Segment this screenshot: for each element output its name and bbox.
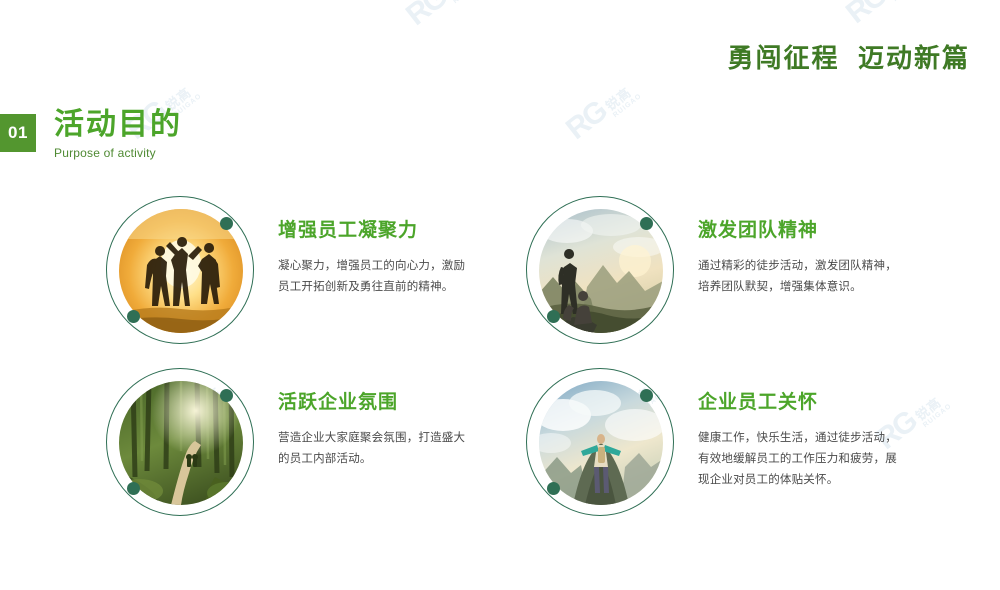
circle-photo-frame [100, 362, 262, 524]
section-number-badge: 01 [0, 114, 36, 152]
ring-dot-bottom-left [127, 310, 140, 323]
page-subtitle: Purpose of activity [54, 146, 182, 160]
card-text: 增强员工凝聚力 凝心聚力，增强员工的向心力，激励员工开拓创新及勇往直前的精神。 [278, 190, 474, 298]
card-title: 活跃企业氛围 [278, 392, 474, 415]
ring-dot-top-right [220, 389, 233, 402]
header-title: 勇闯征程 迈动新篇 [728, 38, 970, 75]
card-text: 激发团队精神 通过精彩的徒步活动，激发团队精神，培养团队默契，增强集体意识。 [698, 190, 898, 298]
circle-photo-frame [520, 362, 682, 524]
watermark-logo: RG [560, 95, 613, 147]
ring-dot-bottom-left [547, 482, 560, 495]
card-title: 激发团队精神 [698, 220, 898, 243]
watermark-mark: RG 锐高 RUIGAO [840, 0, 923, 31]
page-title: 活动目的 [54, 108, 182, 143]
card-text: 活跃企业氛围 营造企业大家庭聚会氛围，打造盛大的员工内部活动。 [278, 362, 474, 470]
ring-dot-top-right [640, 217, 653, 230]
card-body: 通过精彩的徒步活动，激发团队精神，培养团队默契，增强集体意识。 [698, 256, 898, 299]
card-text: 企业员工关怀 健康工作，快乐生活，通过徒步活动，有效地缓解员工的工作压力和疲劳，… [698, 362, 903, 492]
circle-photo-frame [520, 190, 682, 352]
watermark-text-en: RUIGAO [922, 402, 953, 429]
card-body: 健康工作，快乐生活，通过徒步活动，有效地缓解员工的工作压力和疲劳，展现企业对员工… [698, 428, 903, 492]
slide-header: 勇闯征程 迈动新篇 [728, 38, 970, 75]
ring-dot-bottom-left [547, 310, 560, 323]
card-title: 企业员工关怀 [698, 392, 903, 415]
card-title: 增强员工凝聚力 [278, 220, 474, 243]
ring-dot-top-right [640, 389, 653, 402]
watermark-text-cn: 锐高 [603, 82, 638, 114]
content-card: 企业员工关怀 健康工作，快乐生活，通过徒步活动，有效地缓解员工的工作压力和疲劳，… [520, 362, 903, 524]
card-body: 凝心聚力，增强员工的向心力，激励员工开拓创新及勇往直前的精神。 [278, 256, 474, 299]
watermark-text-en: RUIGAO [612, 92, 643, 119]
watermark-logo: RG [840, 0, 893, 31]
section-title-text: 活动目的 Purpose of activity [54, 108, 182, 160]
watermark-logo: RG [400, 0, 453, 33]
watermark-text-cn: 锐高 [913, 392, 948, 424]
section-title-block: 01 活动目的 Purpose of activity [0, 114, 182, 160]
content-card: 激发团队精神 通过精彩的徒步活动，激发团队精神，培养团队默契，增强集体意识。 [520, 190, 898, 352]
watermark-text-en: RUIGAO [452, 0, 483, 5]
watermark-text-en: RUIGAO [892, 0, 923, 3]
card-body: 营造企业大家庭聚会氛围，打造盛大的员工内部活动。 [278, 428, 474, 471]
content-card: 增强员工凝聚力 凝心聚力，增强员工的向心力，激励员工开拓创新及勇往直前的精神。 [100, 190, 474, 352]
watermark-mark: RG 锐高 RUIGAO [400, 0, 483, 33]
content-card: 活跃企业氛围 营造企业大家庭聚会氛围，打造盛大的员工内部活动。 [100, 362, 474, 524]
ring-dot-bottom-left [127, 482, 140, 495]
ring-dot-top-right [220, 217, 233, 230]
watermark-mark: RG 锐高 RUIGAO [560, 71, 643, 146]
circle-photo-frame [100, 190, 262, 352]
